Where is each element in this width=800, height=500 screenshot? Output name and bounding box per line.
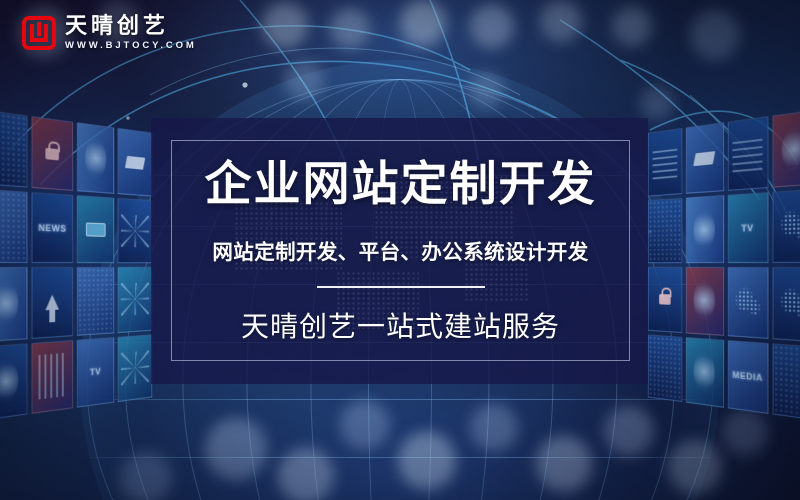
bokeh-light	[470, 404, 518, 452]
tile-lock-icon	[32, 116, 73, 190]
bokeh-light	[604, 406, 654, 456]
tile-grid-icon	[648, 197, 683, 263]
media-tile-wall-left: NEWS TV	[0, 107, 154, 423]
logo-website-url: WWW.BJTOCY.COM	[65, 40, 197, 51]
tile-photo	[32, 340, 73, 414]
page-title: 企业网站定制开发	[205, 162, 597, 209]
tile-starburst-icon	[117, 197, 152, 263]
tile-burst-icon	[686, 195, 724, 263]
bokeh-light	[398, 432, 456, 490]
tile-row	[0, 265, 154, 344]
tile-grid-icon	[648, 334, 683, 402]
bokeh-light	[120, 452, 172, 500]
tile-arrow-up-icon	[32, 267, 73, 338]
tile-burst-icon	[686, 267, 724, 335]
bokeh-light	[400, 0, 446, 46]
bokeh-light	[205, 418, 267, 480]
bokeh-light	[640, 86, 674, 120]
promo-banner: NEWS TV TV	[0, 0, 800, 500]
bokeh-light	[668, 440, 722, 494]
site-logo[interactable]: 天晴创艺 WWW.BJTOCY.COM	[22, 14, 197, 51]
tile-wave-icon	[686, 337, 724, 408]
logo-mark-icon	[22, 16, 56, 50]
tile-keyboard-icon	[727, 116, 768, 190]
content-panel: 企业网站定制开发 网站定制开发、平台、办公系统设计开发 天晴创艺一站式建站服务	[151, 118, 648, 384]
tile-photo	[772, 343, 800, 421]
page-tagline: 天晴创艺一站式建站服务	[241, 305, 560, 345]
bokeh-light	[612, 6, 652, 46]
tile-grid-icon	[76, 267, 114, 335]
tile-starburst-icon	[117, 267, 152, 333]
tile-grid-icon	[0, 188, 28, 263]
tile-rays-icon	[117, 334, 152, 402]
page-subtitle: 网站定制开发、平台、办公系统设计开发	[212, 235, 588, 265]
bokeh-light	[330, 8, 370, 48]
content-panel-border: 企业网站定制开发 网站定制开发、平台、办公系统设计开发 天晴创艺一站式建站服务	[171, 140, 630, 361]
divider	[317, 286, 485, 288]
tile-news-label: NEWS	[32, 192, 73, 263]
bokeh-light	[284, 60, 324, 100]
tile-media-label: MEDIA	[727, 340, 768, 414]
tile-grid-icon	[0, 109, 28, 187]
tile-burst-icon	[0, 267, 28, 342]
tile-clock-icon	[0, 343, 28, 421]
bokeh-light	[278, 448, 334, 500]
tile-tv-label: TV	[76, 337, 114, 408]
tile-ticket-icon	[117, 128, 152, 196]
bokeh-light	[468, 72, 504, 108]
tile-lock-icon	[648, 267, 683, 333]
tile-worldmap-icon	[772, 188, 800, 263]
tile-worldmap-icon	[772, 267, 800, 342]
bokeh-light	[690, 10, 740, 60]
tile-coin-icon	[76, 122, 114, 193]
bokeh-light	[540, 0, 582, 42]
tile-worldmap-icon	[727, 267, 768, 338]
tile-grid-icon	[648, 128, 683, 196]
tile-laptop-icon	[686, 122, 724, 193]
bokeh-light	[340, 400, 390, 450]
tile-row: TV	[646, 186, 800, 265]
bokeh-light	[262, 2, 308, 48]
tile-tv-label: TV	[727, 192, 768, 263]
bokeh-light	[536, 436, 592, 492]
tile-row	[646, 265, 800, 344]
logo-company-name: 天晴创艺	[65, 14, 197, 37]
media-tile-wall-right: TV MEDIA	[646, 107, 800, 423]
logo-text: 天晴创艺 WWW.BJTOCY.COM	[65, 14, 197, 51]
bokeh-light	[470, 4, 514, 48]
tile-photo	[772, 109, 800, 187]
tile-screen-icon	[76, 195, 114, 263]
tile-row: NEWS	[0, 186, 154, 265]
bokeh-light	[722, 410, 768, 456]
